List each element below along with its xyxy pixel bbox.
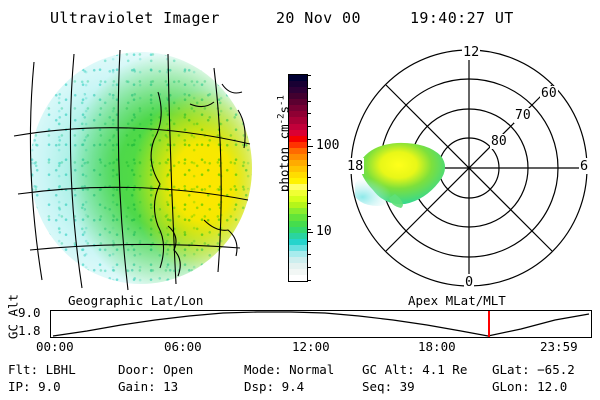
colorbar-panel: photon cm-2s-1 10010 [258, 44, 348, 294]
colorbar-minor-tick-9 [307, 190, 311, 191]
orbit-altitude-curve [51, 311, 591, 337]
header-bar: Ultraviolet Imager 20 Nov 00 19:40:27 UT [0, 6, 600, 32]
status-dsp: Dsp: 9.4 [244, 379, 304, 394]
colorbar-minor-tick-6 [307, 152, 311, 153]
colorbar-minor-tick-7 [307, 165, 311, 166]
colorbar-tick-label-100: 100 [316, 138, 339, 153]
mlt-label-0: 0 [464, 274, 474, 290]
orbit-x-tick-0600: 06:00 [164, 339, 202, 354]
orbit-x-tick-0000: 00:00 [36, 339, 74, 354]
orbit-altitude-panel: Geographic Lat/Lon Apex MLat/MLT GC Alt … [0, 293, 600, 355]
colorbar-minor-tick-3 [307, 113, 311, 114]
orbit-plot-box[interactable] [50, 310, 592, 338]
colorbar-minor-tick-2 [307, 101, 311, 102]
lat-ring-label-70: 70 [514, 108, 532, 123]
colorbar-minor-tick-10 [307, 203, 311, 204]
colorbar-band-33 [289, 275, 307, 281]
lat-ring-label-80: 80 [490, 134, 508, 149]
current-time-marker [488, 311, 490, 337]
colorbar-minor-tick-8 [307, 177, 311, 178]
colorbar-tick-mark-100 [307, 146, 313, 147]
status-door: Door: Open [118, 362, 193, 377]
colorbar-exponent-2: -1 [276, 95, 286, 106]
geographic-image-panel [8, 44, 258, 292]
observation-time: 19:40:27 UT [410, 9, 514, 27]
orbit-y-tick-max: 9.0 [18, 305, 41, 320]
status-seq: Seq: 39 [362, 379, 415, 394]
colorbar-gradient [288, 74, 308, 282]
colorbar-minor-tick-16 [307, 280, 311, 281]
status-gain: Gain: 13 [118, 379, 178, 394]
colorbar-minor-tick-1 [307, 88, 311, 89]
colorbar-minor-tick-15 [307, 267, 311, 268]
mlt-label-18: 18 [346, 158, 364, 174]
colorbar-minor-tick-4 [307, 126, 311, 127]
orbit-x-tick-1200: 12:00 [292, 339, 330, 354]
globe-panel-caption: Geographic Lat/Lon [68, 293, 203, 308]
colorbar-minor-tick-14 [307, 254, 311, 255]
mlt-label-12: 12 [462, 44, 480, 60]
page-title: Ultraviolet Imager [50, 9, 220, 27]
colorbar-minor-tick-11 [307, 216, 311, 217]
polar-mlt-panel: 12 6 0 18 60 70 80 [348, 42, 600, 294]
colorbar-minor-tick-12 [307, 229, 311, 230]
orbit-x-tick-1800: 18:00 [418, 339, 456, 354]
status-ip: IP: 9.0 [8, 379, 61, 394]
colorbar-minor-tick-13 [307, 241, 311, 242]
status-gc-alt: GC Alt: 4.1 Re [362, 362, 467, 377]
polar-panel-caption: Apex MLat/MLT [408, 293, 506, 308]
lat-ring-label-60: 60 [540, 86, 558, 101]
status-glon: GLon: 12.0 [492, 379, 567, 394]
orbit-y-tick-min: 1.8 [18, 323, 41, 338]
uvi-screenshot: Ultraviolet Imager 20 Nov 00 19:40:27 UT [0, 0, 600, 400]
mlt-label-6: 6 [579, 158, 589, 174]
colorbar-minor-tick-0 [307, 75, 311, 76]
status-mode: Mode: Normal [244, 362, 334, 377]
observation-date: 20 Nov 00 [276, 9, 361, 27]
colorbar-tick-mark-10 [307, 232, 313, 233]
orbit-x-tick-2359: 23:59 [540, 339, 578, 354]
status-glat: GLat: −65.2 [492, 362, 575, 377]
colorbar-tick-label-10: 10 [316, 224, 332, 239]
auroral-oval-blob [355, 134, 459, 212]
status-filter: Flt: LBHL [8, 362, 76, 377]
coastline-graticule-overlay [8, 44, 258, 292]
colorbar-exponent-1: -2 [276, 113, 286, 124]
status-bar: Flt: LBHL IP: 9.0 Door: Open Gain: 13 Mo… [0, 362, 600, 400]
colorbar-minor-tick-5 [307, 139, 311, 140]
